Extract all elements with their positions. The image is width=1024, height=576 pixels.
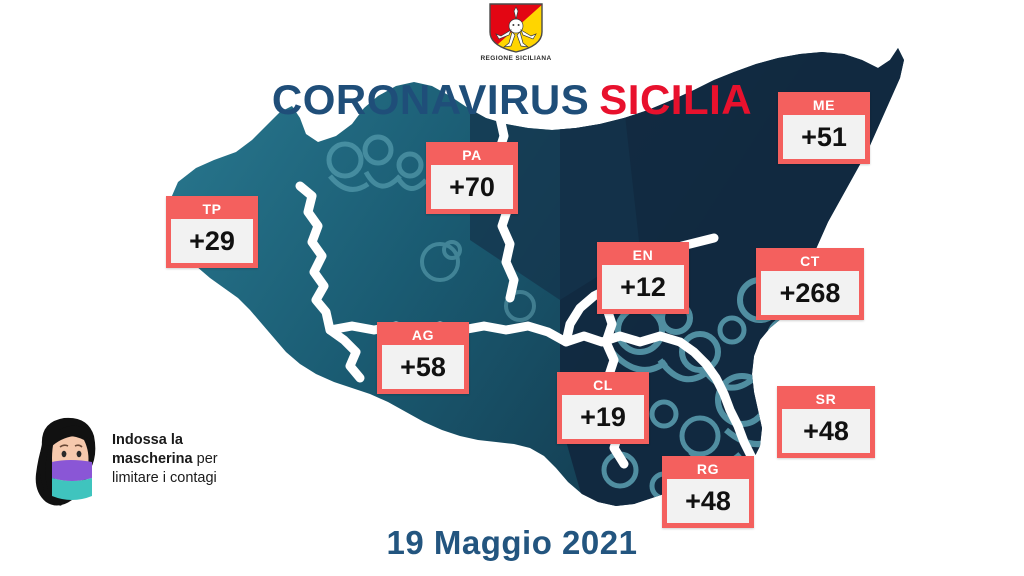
province-badge-value: +51: [783, 115, 865, 159]
province-badge-value: +70: [431, 165, 513, 209]
province-badge-rg: RG+48: [662, 456, 754, 528]
province-badge-label: ME: [783, 96, 865, 115]
province-badge-label: RG: [667, 460, 749, 479]
province-badge-ct: CT+268: [756, 248, 864, 320]
province-badge-value: +268: [761, 271, 859, 315]
page-title: CORONAVIRUSSICILIA: [0, 76, 1024, 124]
emblem-caption: REGIONE SICILIANA: [472, 55, 560, 62]
province-badge-label: CT: [761, 252, 859, 271]
province-badge-pa: PA+70: [426, 142, 518, 214]
province-badge-ag: AG+58: [377, 322, 469, 394]
province-badge-label: EN: [602, 246, 684, 265]
province-badge-label: AG: [382, 326, 464, 345]
province-badge-label: PA: [431, 146, 513, 165]
title-word-sicilia: SICILIA: [599, 76, 752, 123]
mask-caption-line3: limitare i contagi: [112, 470, 217, 486]
mask-caption: Indossa la mascherina per limitare i con…: [112, 431, 282, 488]
regione-siciliana-emblem: REGIONE SICILIANA: [472, 2, 560, 62]
province-badge-label: CL: [562, 376, 644, 395]
province-badge-value: +58: [382, 345, 464, 389]
date-label: 19 Maggio 2021: [0, 524, 1024, 562]
province-badge-en: EN+12: [597, 242, 689, 314]
province-badge-value: +19: [562, 395, 644, 439]
province-badge-value: +29: [171, 219, 253, 263]
mask-caption-line2-bold: mascherina: [112, 451, 193, 467]
province-badge-me: ME+51: [778, 92, 870, 164]
masked-girl-icon: [28, 412, 106, 512]
province-badge-label: SR: [782, 390, 870, 409]
province-badge-value: +12: [602, 265, 684, 309]
province-badge-label: TP: [171, 200, 253, 219]
sicily-shield-icon: [487, 2, 545, 54]
province-badge-tp: TP+29: [166, 196, 258, 268]
title-word-coronavirus: CORONAVIRUS: [272, 76, 589, 123]
province-badge-sr: SR+48: [777, 386, 875, 458]
province-badge-value: +48: [782, 409, 870, 453]
mask-caption-line1: Indossa la: [112, 432, 183, 448]
mask-notice: Indossa la mascherina per limitare i con…: [28, 412, 278, 517]
province-badge-cl: CL+19: [557, 372, 649, 444]
province-badge-value: +48: [667, 479, 749, 523]
mask-caption-line2-normal: per: [197, 451, 218, 467]
